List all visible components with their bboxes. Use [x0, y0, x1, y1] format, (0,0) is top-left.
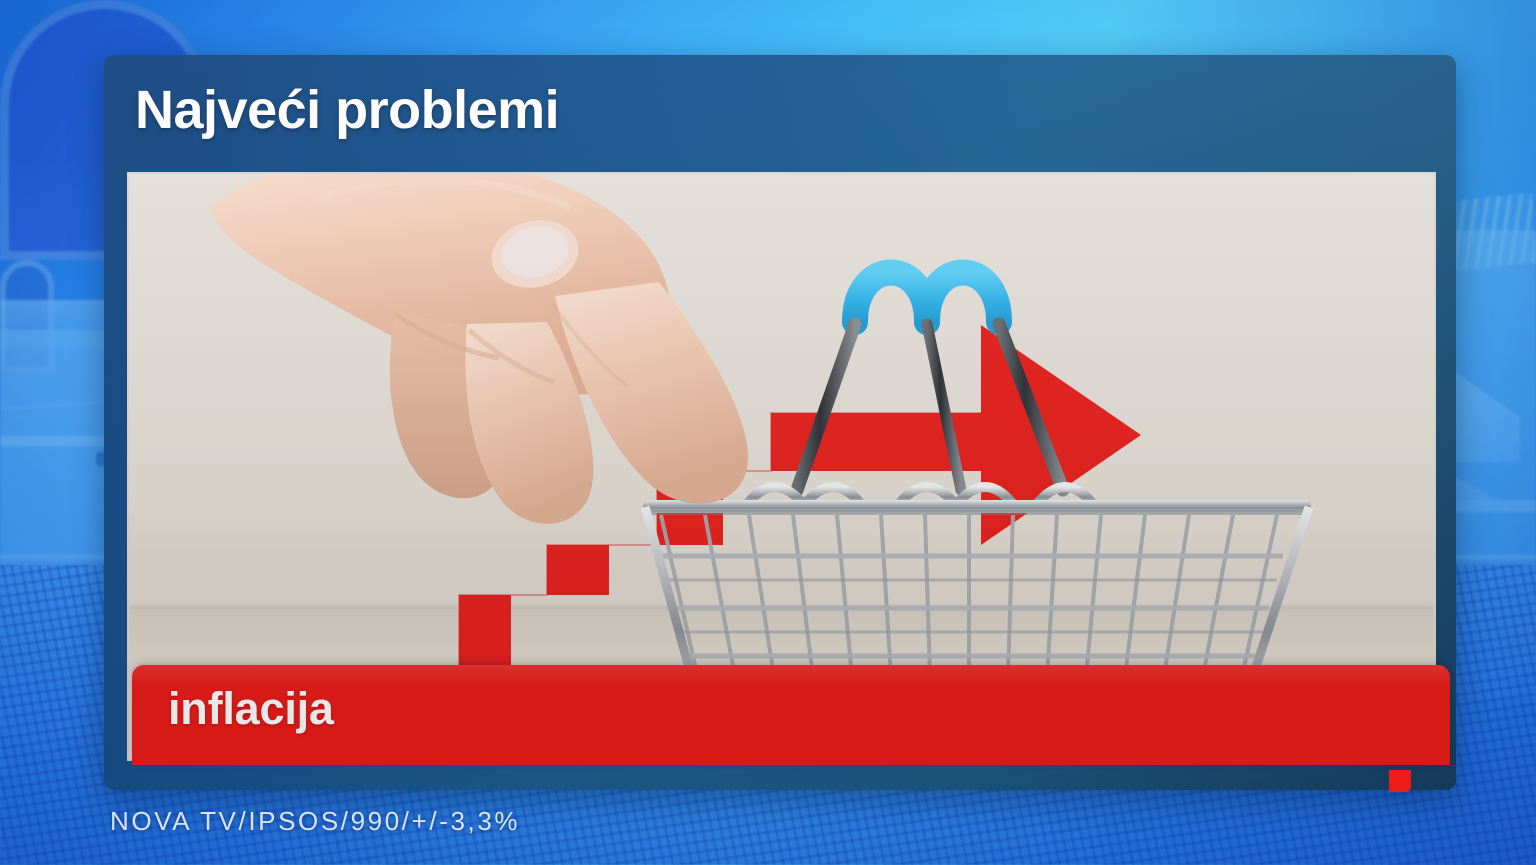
panel-corner-accent	[1389, 770, 1411, 792]
graphic-panel: Najveći problemi	[104, 55, 1456, 790]
caption-label: inflacija	[168, 683, 334, 735]
caption-bar: inflacija	[132, 665, 1450, 765]
source-credit: NOVA TV/IPSOS/990/+/-3,3%	[110, 806, 520, 837]
page-title: Najveći problemi	[135, 79, 559, 141]
hand-walking-fingers-icon	[199, 172, 819, 642]
broadcast-graphic-screen: Najveći problemi	[0, 0, 1536, 865]
hand-svg	[199, 172, 819, 642]
